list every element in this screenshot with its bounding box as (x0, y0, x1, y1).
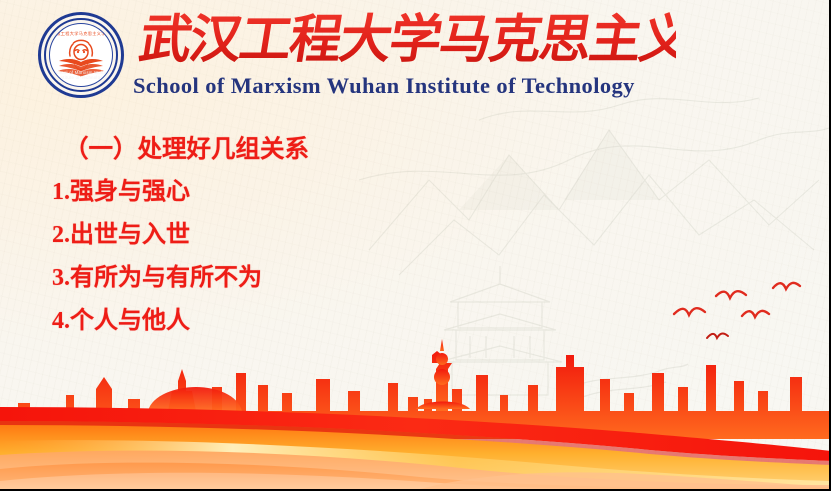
emblem-arc-bottom-text: School of Marxism Wuhan Institute of Tec… (50, 70, 112, 80)
school-title-english: School of Marxism Wuhan Institute of Tec… (133, 73, 673, 99)
content-item-3: 3.有所为与有所不为 (52, 257, 482, 300)
presentation-slide: 武汉工程大学马克思主义学院 (0, 0, 831, 491)
content-item-2: 2.出世与入世 (52, 214, 482, 257)
slide-header: 武汉工程大学马克思主义学院 (0, 0, 829, 112)
emblem-arc-top-text: 武汉工程大学马克思主义学院 (50, 31, 112, 37)
school-emblem-logo: 武汉工程大学马克思主义学院 (38, 12, 124, 98)
school-title-chinese: 武汉工程大学马克思主义学院 (131, 8, 676, 70)
school-title-chinese-text: 武汉工程大学马克思主义学院 (135, 9, 676, 70)
content-item-1: 1.强身与强心 (52, 171, 482, 214)
content-heading: （一）处理好几组关系 (52, 128, 482, 171)
city-skyline-graphic (0, 329, 831, 489)
emblem-disc: 武汉工程大学马克思主义学院 (49, 23, 113, 87)
slide-body: （一）处理好几组关系 1.强身与强心 2.出世与入世 3.有所为与有所不为 4.… (52, 128, 482, 343)
